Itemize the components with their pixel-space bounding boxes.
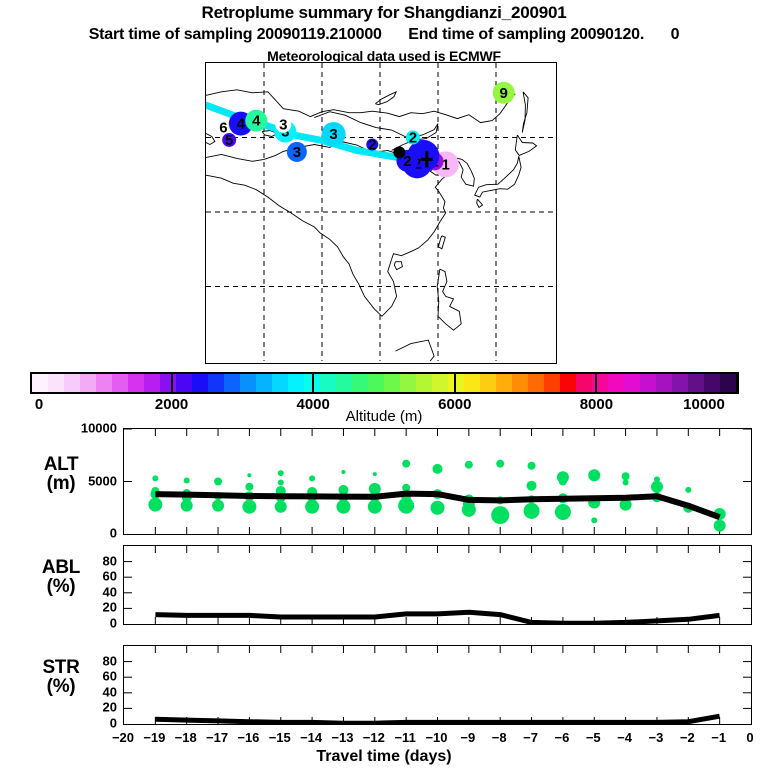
xtick-label--7: −7 [523,730,538,745]
colorbar-swatch-34 [576,374,592,392]
alt-scatter-point-46 [528,462,536,470]
map-coastline-14 [437,269,461,330]
ytick-label-str-60: 60 [103,669,117,684]
colorbar-tick-4000: 4000 [297,396,330,413]
colorbar-tick-6000: 6000 [438,396,471,413]
map-day-marker-label-7: 2 [409,130,417,147]
xtick-label--14: −14 [300,730,322,745]
alt-scatter-point-12 [245,483,253,491]
map-day-marker-label-5: 2 [395,144,403,161]
alt-scatter-point-45 [491,506,509,524]
alt-scatter-point-61 [651,481,663,493]
ytick-label-alt-0: 0 [110,526,117,541]
ytick-label-str-40: 40 [103,684,117,699]
alt-scatter-point-56 [591,517,597,523]
map-coastline-12 [522,92,528,133]
colorbar-swatch-29 [496,374,512,392]
map-coastline-7 [206,175,397,316]
colorbar-swatch-24 [416,374,432,392]
colorbar-swatch-7 [144,374,160,392]
xtick-label-0: 0 [746,730,753,745]
alt-scatter-point-3 [148,498,162,512]
abl-axis-label: ABL (%) [8,558,114,597]
str-label-line2: (%) [8,677,114,696]
page-title: Retroplume summary for Shangdianzi_20090… [0,3,768,23]
colorbar-swatch-21 [368,374,384,392]
alt-scatter-point-49 [524,503,540,519]
str-label-line1: STR [8,658,114,677]
alt-scatter-point-31 [368,500,382,514]
alt-scatter-point-23 [305,500,319,514]
xtick-label--19: −19 [143,730,165,745]
map-coastline-1 [375,92,396,105]
x-axis-title: Travel time (days) [0,748,768,766]
alt-scatter-point-28 [373,472,377,476]
colorbar-swatch-12 [224,374,240,392]
end-time-label: End time of sampling 20090120. [408,26,644,43]
colorbar-swatch-35 [592,374,608,392]
altitude-colorbar [30,372,738,394]
map-coastline-10 [475,156,521,197]
alt-scatter-point-66 [714,520,726,532]
xtick-label--4: −4 [617,730,632,745]
alt-scatter-point-36 [433,464,443,474]
map-coastline-11 [477,199,483,207]
alt-scatter-point-14 [242,500,256,514]
ytick-label-str-20: 20 [103,700,117,715]
ytick-label-abl-80: 80 [103,553,117,568]
abl-panel[interactable] [123,545,752,625]
map-day-marker-label-12: 4 [237,116,246,133]
colorbar-swatch-25 [432,374,448,392]
alt-scatter-point-47 [527,481,537,491]
xtick-label--18: −18 [175,730,197,745]
ytick-label-abl-20: 20 [103,600,117,615]
alt-scatter-point-15 [278,470,284,476]
alt-scatter-point-11 [247,473,251,477]
str-axis-label: STR (%) [8,658,114,697]
alt-plot-graphic [124,429,751,534]
colorbar-divider-8000 [595,372,597,394]
map-coastline-13 [438,236,445,249]
colorbar-swatch-3 [80,374,96,392]
map-day-marker-label-11: 3 [279,117,287,134]
xtick-label--12: −12 [363,730,385,745]
alt-scatter-point-10 [212,500,224,512]
colorbar-swatch-33 [560,374,576,392]
map-day-marker-label-16: 9 [500,85,508,102]
alt-scatter-point-19 [275,501,287,513]
colorbar-swatch-26 [448,374,464,392]
map-coastline-9 [515,135,536,155]
xtick-label--15: −15 [269,730,291,745]
colorbar-swatch-27 [464,374,480,392]
colorbar-divider-6000 [454,372,456,394]
alt-scatter-point-24 [341,470,345,474]
colorbar-swatch-15 [272,374,288,392]
colorbar-swatch-14 [256,374,272,392]
colorbar-divider-4000 [312,372,314,394]
colorbar-swatch-1 [48,374,64,392]
colorbar-swatch-0 [32,374,48,392]
map-day-marker-label-9: 3 [329,126,337,143]
alt-scatter-point-16 [278,480,284,486]
abl-plot-graphic [124,546,751,624]
colorbar-swatch-23 [400,374,416,392]
colorbar-swatch-19 [336,374,352,392]
str-plot-graphic [124,646,751,724]
str-panel[interactable] [123,645,752,725]
colorbar-tick-2000: 2000 [155,396,188,413]
map-coastline-15 [396,340,435,361]
alt-scatter-point-20 [309,475,315,481]
colorbar-swatch-39 [656,374,672,392]
colorbar-divider-10000 [737,372,739,394]
colorbar-swatch-6 [128,374,144,392]
colorbar-swatch-28 [480,374,496,392]
colorbar-swatch-13 [240,374,256,392]
colorbar-tick-0: 0 [35,396,43,413]
sampling-time-line: Start time of sampling 20090119.210000 E… [0,26,768,44]
colorbar-swatch-41 [688,374,704,392]
map-day-marker-label-15: 6 [219,120,227,137]
retroplume-map[interactable]: 11222222333344569 [205,62,557,364]
xtick-label--20: −20 [112,730,134,745]
ytick-label-alt-5000: 5000 [88,473,117,488]
alt-label-line1: ALT [8,455,114,474]
colorbar-swatch-43 [720,374,736,392]
map-coastline-8 [394,262,402,270]
ytick-label-abl-0: 0 [110,616,117,631]
colorbar-swatch-9 [176,374,192,392]
colorbar-swatch-30 [512,374,528,392]
colorbar-tick-10000: 10000 [683,396,725,413]
colorbar-swatch-36 [608,374,624,392]
colorbar-swatch-32 [544,374,560,392]
colorbar-swatch-38 [640,374,656,392]
colorbar-swatch-16 [288,374,304,392]
colorbar-swatch-8 [160,374,176,392]
alt-scatter-point-0 [152,475,158,481]
colorbar-swatch-37 [624,374,640,392]
alt-scatter-point-32 [402,460,410,468]
ytick-label-abl-60: 60 [103,569,117,584]
xtick-label--11: −11 [394,730,415,745]
colorbar-swatch-4 [96,374,112,392]
colorbar-swatch-2 [64,374,80,392]
xtick-label--1: −1 [711,730,726,745]
alt-scatter-point-53 [555,504,571,520]
map-day-marker-label-8: 3 [293,144,301,161]
xtick-label--17: −17 [206,730,228,745]
alt-scatter-point-58 [623,480,629,486]
end-time-extra: 0 [671,26,680,43]
colorbar-swatch-20 [352,374,368,392]
alt-scatter-point-35 [398,498,414,514]
colorbar-swatch-5 [112,374,128,392]
map-day-marker-label-6: 2 [368,136,376,153]
colorbar-tick-8000: 8000 [580,396,613,413]
xtick-label--8: −8 [492,730,507,745]
alt-scatter-point-51 [559,478,567,486]
map-day-marker-label-13: 4 [252,113,261,130]
colorbar-divider-2000 [171,372,173,394]
xtick-label--9: −9 [460,730,475,745]
colorbar-swatch-22 [384,374,400,392]
ytick-label-str-80: 80 [103,653,117,668]
xtick-label--16: −16 [237,730,259,745]
alt-scatter-point-57 [622,472,630,480]
alt-scatter-point-42 [462,503,476,517]
xtick-label--13: −13 [331,730,353,745]
alt-scatter-point-63 [685,487,691,493]
map-coastline-3 [206,134,215,145]
alt-scatter-point-27 [336,500,350,514]
ytick-label-str-0: 0 [110,716,117,731]
colorbar-swatch-10 [192,374,208,392]
xtick-label--3: −3 [649,730,664,745]
map-graphic: 11222222333344569 [206,63,554,361]
alt-scatter-point-38 [431,501,445,515]
ytick-label-abl-40: 40 [103,584,117,599]
alt-scatter-point-39 [465,461,473,469]
xtick-label--2: −2 [680,730,695,745]
ytick-label-alt-10000: 10000 [81,421,117,436]
alt-scatter-point-43 [496,460,504,468]
alt-scatter-point-8 [214,478,222,486]
alt-scatter-point-54 [588,469,600,481]
start-time-label: Start time of sampling 20090119.210000 [89,26,382,43]
alt-scatter-point-4 [184,477,190,483]
abl-label-line1: ABL [8,558,114,577]
xtick-label--10: −10 [425,730,447,745]
colorbar-swatch-18 [320,374,336,392]
colorbar-gradient [30,372,738,394]
colorbar-swatch-40 [672,374,688,392]
colorbar-swatch-11 [208,374,224,392]
colorbar-swatch-31 [528,374,544,392]
alt-scatter-point-7 [181,500,193,512]
alt-scatter-point-33 [402,484,410,492]
xtick-label--5: −5 [586,730,601,745]
xtick-label--6: −6 [554,730,569,745]
colorbar-swatch-42 [704,374,720,392]
alt-panel[interactable] [123,428,752,535]
abl-label-line2: (%) [8,577,114,596]
